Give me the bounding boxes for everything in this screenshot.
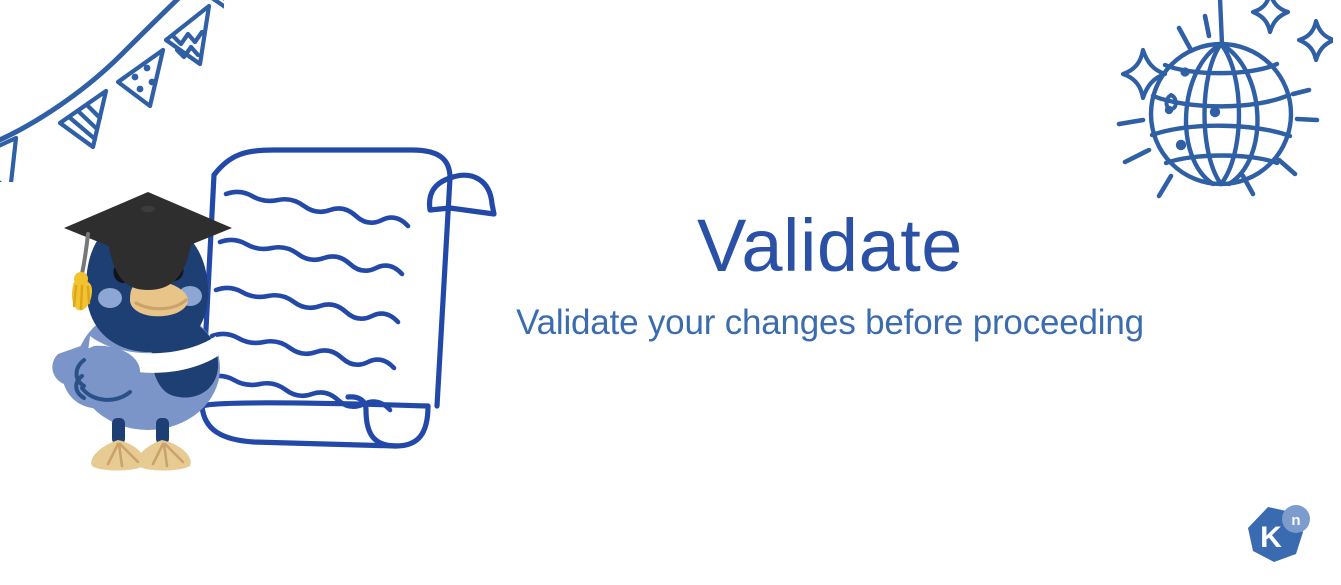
page-title: Validate [470,208,1190,285]
kn-brand-logo: K n [1241,501,1313,573]
graduate-bird-mascot-icon [52,190,237,473]
logo-badge-letter: n [1291,512,1300,529]
logo-heptagon-letter: K [1260,521,1282,554]
slide-canvas: Validate Validate your changes before pr… [0,0,1341,585]
hero-text-block: Validate Validate your changes before pr… [470,208,1190,343]
hero-illustration [52,138,472,473]
page-subtitle: Validate your changes before proceeding [470,303,1190,343]
disco-ball-icon [1103,0,1333,228]
